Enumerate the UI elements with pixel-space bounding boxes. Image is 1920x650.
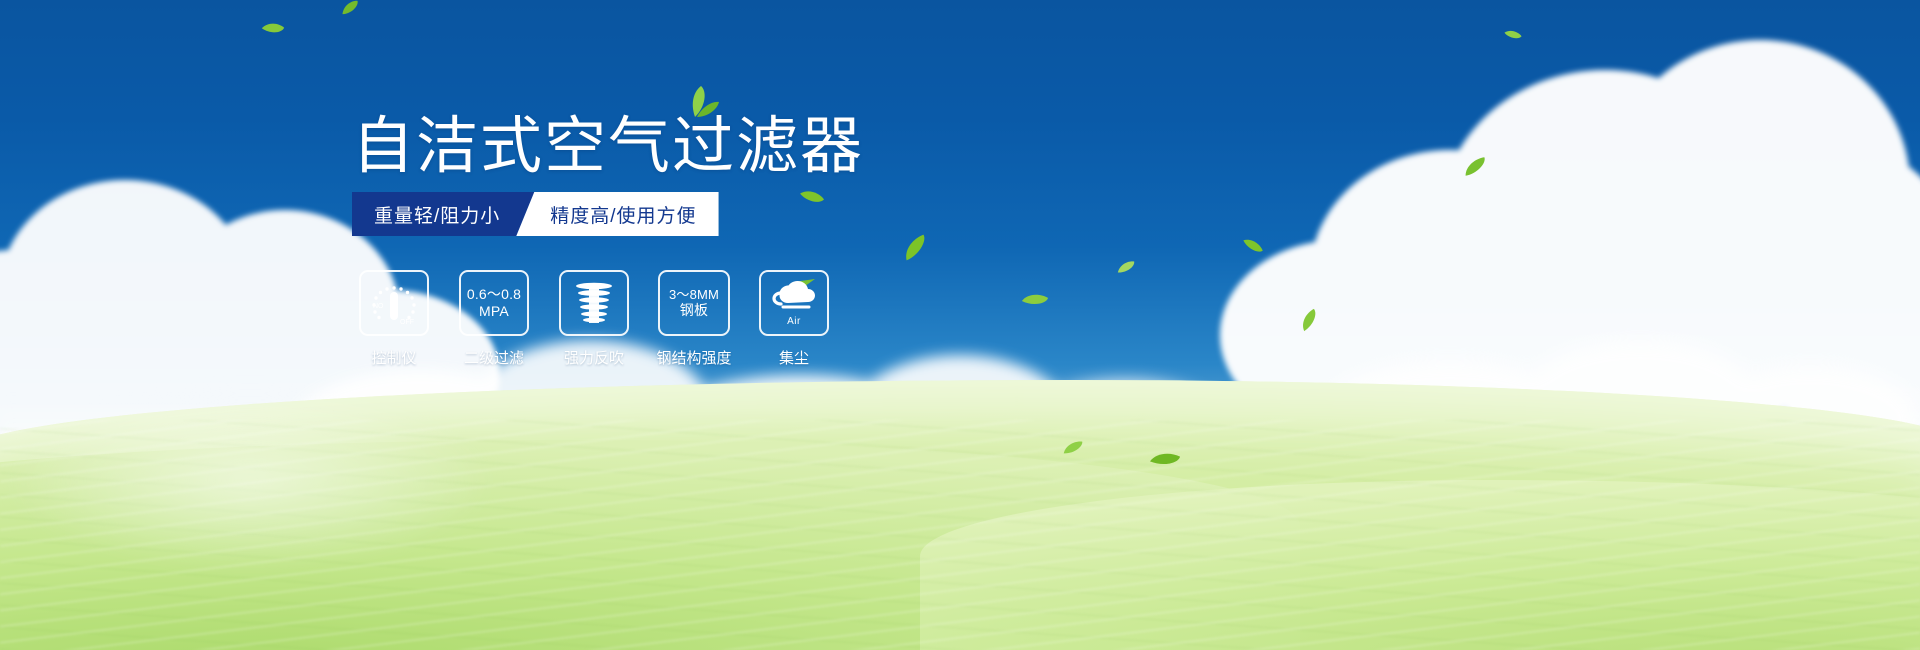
- gauge-icon: NO OFF: [359, 270, 429, 336]
- feature-tag-row: 重量轻/阻力小 精度高/使用方便: [352, 192, 719, 236]
- feature-icon-row: NO OFF 控制仪 0.6～0.8 MPA 二级过滤: [358, 270, 830, 368]
- feature-caption: 二级过滤: [464, 347, 524, 368]
- feature-caption: 控制仪: [371, 347, 416, 368]
- gauge-label-no: NO: [373, 303, 384, 310]
- pressure-text-icon: 0.6～0.8 MPA: [459, 270, 529, 336]
- title-leaf-icon: [672, 84, 720, 123]
- feature-item-pressure[interactable]: 0.6～0.8 MPA 二级过滤: [458, 270, 530, 368]
- banner-content: 自洁式空气过滤器 重量轻/阻力小 精度高/使用方便: [0, 0, 1920, 650]
- feature-caption: 钢结构强度: [657, 347, 732, 368]
- tag-weight-resistance[interactable]: 重量轻/阻力小: [352, 192, 534, 236]
- feature-caption: 强力反吹: [564, 347, 624, 368]
- page-title: 自洁式空气过滤器: [352, 115, 864, 177]
- steel-material: 钢板: [680, 302, 708, 319]
- cloud-air-icon: Air: [759, 270, 829, 336]
- tag-precision-convenience[interactable]: 精度高/使用方便: [516, 192, 718, 236]
- feature-item-backblow[interactable]: 强力反吹: [558, 270, 630, 368]
- feature-caption: 集尘: [779, 347, 809, 368]
- feature-item-dust[interactable]: Air 集尘: [758, 270, 830, 368]
- steel-plate-text-icon: 3～8MM 钢板: [658, 270, 730, 336]
- filter-cartridge-icon: [559, 270, 629, 336]
- pressure-unit: MPA: [479, 303, 509, 320]
- feature-item-steel[interactable]: 3～8MM 钢板 钢结构强度: [658, 270, 730, 368]
- gauge-label-off: OFF: [400, 319, 414, 326]
- promo-banner: 自洁式空气过滤器 重量轻/阻力小 精度高/使用方便: [0, 0, 1920, 650]
- air-label: Air: [787, 316, 801, 328]
- feature-item-controller[interactable]: NO OFF 控制仪: [358, 270, 430, 368]
- pressure-range: 0.6～0.8: [467, 286, 521, 303]
- steel-thickness: 3～8MM: [669, 287, 719, 302]
